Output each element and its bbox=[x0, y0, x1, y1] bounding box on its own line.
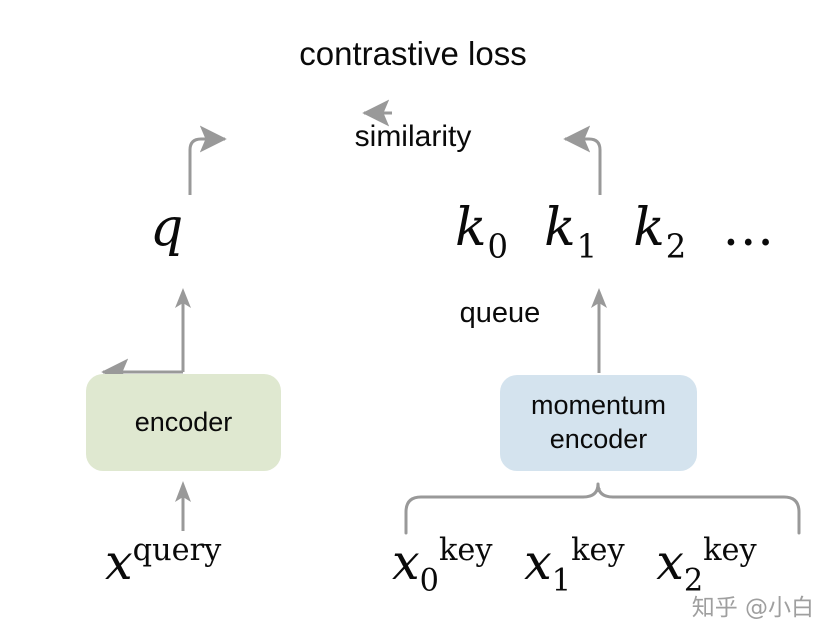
momentum-encoder-line-1: momentum bbox=[531, 390, 666, 420]
arrow-encoder-to-q bbox=[103, 288, 191, 372]
query-vector-symbol: q bbox=[150, 198, 183, 258]
query-input-base: x bbox=[105, 534, 133, 591]
momentum-encoder-box-label: momentum encoder bbox=[531, 389, 666, 457]
momentum-encoder-box[interactable]: momentum encoder bbox=[500, 375, 697, 471]
contrastive-loss-label: contrastive loss bbox=[0, 36, 826, 73]
queue-label: queue bbox=[380, 297, 620, 329]
momentum-encoder-line-2: encoder bbox=[550, 424, 648, 454]
query-vector-base: q bbox=[150, 198, 183, 258]
key-vector-0: k0 bbox=[455, 198, 509, 258]
key-vector-ellipsis: … bbox=[722, 198, 775, 258]
key-input-1: x1key bbox=[524, 534, 625, 591]
key-vector-2: k2 bbox=[633, 198, 687, 258]
diagram-canvas: contrastive loss similarity q k0 k1 k2 …… bbox=[0, 0, 826, 634]
key-vector-1: k1 bbox=[544, 198, 598, 258]
encoder-box[interactable]: encoder bbox=[86, 374, 281, 471]
arrow-query-input-to-encoder bbox=[175, 481, 191, 531]
key-input-2: x2key bbox=[656, 534, 757, 591]
key-input-list: x0key x1key x2key bbox=[392, 534, 773, 591]
key-vector-list: k0 k1 k2 … bbox=[455, 198, 775, 258]
encoder-box-label: encoder bbox=[135, 406, 233, 440]
query-input-symbol: xquery bbox=[105, 534, 221, 591]
query-input-superscript: query bbox=[133, 533, 222, 568]
similarity-label: similarity bbox=[0, 120, 826, 154]
watermark: 知乎 @小白 bbox=[692, 588, 814, 622]
key-input-0: x0key bbox=[392, 534, 493, 591]
key-inputs-brace bbox=[406, 484, 799, 533]
